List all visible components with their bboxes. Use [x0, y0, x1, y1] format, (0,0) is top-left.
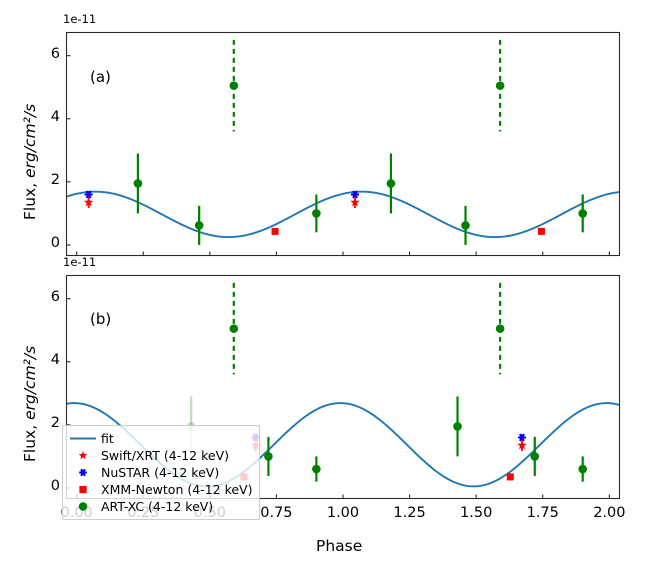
yaxis-label-plain: Flux,: [21, 420, 39, 462]
panel-a-yaxis-label: Flux, erg/cm²/s: [21, 104, 39, 220]
series-art-xc: [134, 40, 587, 245]
ytick-label: 6: [46, 289, 60, 305]
panel-a-yaxis-offset-text: 1e-11: [63, 12, 96, 26]
yaxis-label-italic: erg/cm²/s: [21, 104, 39, 178]
legend: fitSwift/XRT (4-12 keV)NuSTAR (4-12 keV)…: [62, 425, 260, 520]
ytick-label: 2: [46, 172, 60, 188]
legend-square: [79, 486, 86, 493]
data-point-square: [272, 228, 279, 235]
legend-item: NuSTAR (4-12 keV): [68, 464, 252, 481]
legend-asterisk: [79, 469, 87, 476]
legend-item: ART-XC (4-12 keV): [68, 498, 252, 515]
figure-root: 1e-11 1e-11 (a) (b) Flux, erg/cm²/s Flux…: [0, 0, 653, 569]
legend-label: NuSTAR (4-12 keV): [101, 465, 219, 480]
xaxis-label: Phase: [316, 537, 362, 555]
ytick-label: 4: [46, 109, 60, 125]
legend-marker-asterisk: [68, 464, 98, 481]
legend-label: ART-XC (4-12 keV): [101, 499, 213, 514]
ytick-label: 0: [46, 235, 60, 251]
legend-star: [79, 451, 88, 459]
yaxis-label-italic: erg/cm²/s: [21, 346, 39, 420]
legend-label: XMM-Newton (4-12 keV): [101, 482, 252, 497]
data-point-circle: [496, 81, 505, 90]
legend-item: Swift/XRT (4-12 keV): [68, 447, 252, 464]
xtick-label: 1.00: [319, 505, 367, 521]
data-point-circle: [230, 81, 239, 90]
data-point-circle: [387, 179, 396, 188]
ytick-label: 6: [46, 46, 60, 62]
legend-marker-star: [68, 447, 98, 464]
data-point-circle: [195, 221, 204, 230]
axes-frame: [67, 33, 620, 256]
legend-label: fit: [101, 431, 114, 446]
data-point-circle: [578, 209, 587, 218]
yaxis-label-plain: Flux,: [21, 178, 39, 220]
ytick-label: 2: [46, 415, 60, 431]
ytick-label: 4: [46, 352, 60, 368]
tick-marks: [66, 56, 609, 256]
xtick-label: 1.75: [519, 505, 567, 521]
ytick-label: 0: [46, 478, 60, 494]
data-point-circle: [461, 221, 470, 230]
legend-item: fit: [68, 430, 252, 447]
data-point-square: [538, 228, 545, 235]
legend-marker-line: [68, 430, 98, 447]
fit-curve: [66, 192, 620, 237]
xtick-label: 1.25: [386, 505, 434, 521]
data-point-circle: [312, 209, 321, 218]
panel-b-tag: (b): [90, 310, 111, 328]
panel-b-yaxis-label: Flux, erg/cm²/s: [21, 346, 39, 462]
data-point-circle: [134, 179, 143, 188]
legend-circle: [79, 502, 87, 510]
panel-a-tag: (a): [90, 68, 111, 86]
panel-data-area: [66, 40, 620, 245]
legend-label: Swift/XRT (4-12 keV): [101, 448, 229, 463]
legend-marker-square: [68, 481, 98, 498]
series-xmm-newton: [272, 228, 545, 235]
legend-item: XMM-Newton (4-12 keV): [68, 481, 252, 498]
legend-marker-circle: [68, 498, 98, 515]
xtick-label: 2.00: [585, 505, 633, 521]
xtick-label: 1.50: [452, 505, 500, 521]
panel-b-yaxis-offset-text: 1e-11: [63, 255, 96, 269]
